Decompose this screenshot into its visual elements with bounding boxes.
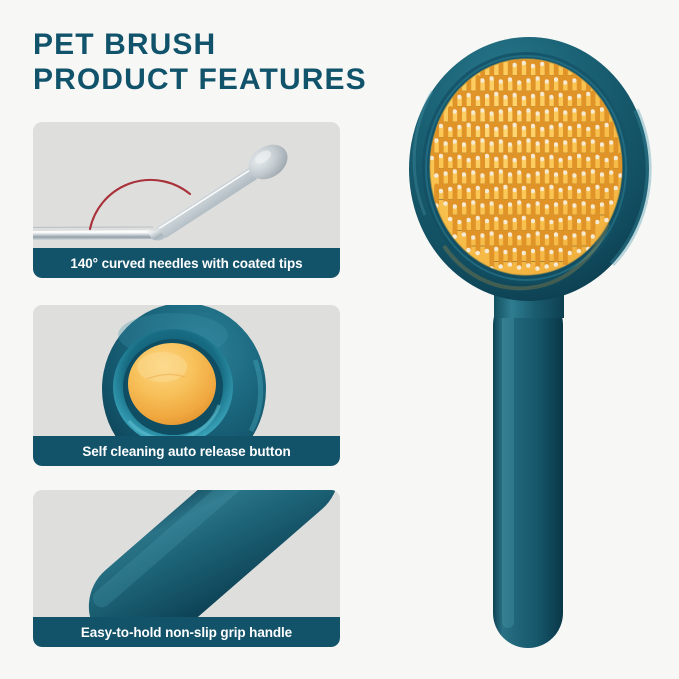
title-line-2: PRODUCT FEATURES: [33, 62, 453, 97]
feature-label-text: Easy-to-hold non-slip grip handle: [81, 625, 292, 640]
feature-label-text: Self cleaning auto release button: [82, 444, 290, 459]
infographic-canvas: PET BRUSH PRODUCT FEATURES: [0, 0, 679, 679]
title-line-1: PET BRUSH: [33, 27, 453, 62]
needle-edge-line: [33, 227, 153, 228]
needle-shaft-horizontal: [33, 230, 156, 240]
product-image-pet-brush: [398, 18, 679, 668]
page-title: PET BRUSH PRODUCT FEATURES: [33, 27, 453, 97]
pet-brush-svg: [398, 18, 679, 668]
needle-highlight: [159, 170, 250, 229]
feature-card-curved-needles: 140° 140° curved needles with coated tip…: [33, 122, 340, 278]
feature-label-curved-needles: 140° curved needles with coated tips: [33, 248, 340, 278]
feature-card-grip-handle: Easy-to-hold non-slip grip handle: [33, 490, 340, 647]
button-gloss: [137, 352, 187, 382]
needle-shaft-diagonal: [157, 168, 257, 238]
feature-label-grip-handle: Easy-to-hold non-slip grip handle: [33, 617, 340, 647]
feature-card-auto-release-button: Self cleaning auto release button: [33, 305, 340, 466]
handle-highlight: [502, 308, 514, 628]
feature-label-text: 140° curved needles with coated tips: [70, 256, 302, 271]
feature-label-auto-release-button: Self cleaning auto release button: [33, 436, 340, 466]
